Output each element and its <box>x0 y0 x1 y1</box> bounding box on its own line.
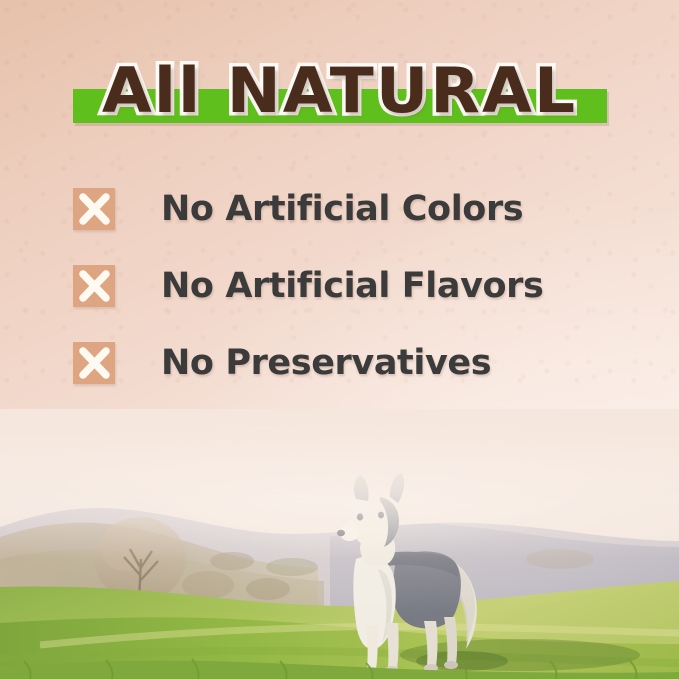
list-item: No Preservatives <box>73 324 633 401</box>
all-natural-poster: All NATURAL No Artificial Colors No Arti… <box>0 0 679 679</box>
x-mark-icon <box>73 342 115 384</box>
claim-label: No Artificial Flavors <box>161 266 543 306</box>
headline-banner: All NATURAL <box>0 52 679 130</box>
list-item: No Artificial Colors <box>73 170 633 247</box>
dog-landscape-photo <box>0 409 679 679</box>
claim-label: No Preservatives <box>161 343 491 383</box>
list-item: No Artificial Flavors <box>73 247 633 324</box>
x-mark-icon <box>73 265 115 307</box>
page-title: All NATURAL <box>0 52 679 130</box>
claim-label: No Artificial Colors <box>161 189 523 229</box>
x-mark-icon <box>73 188 115 230</box>
